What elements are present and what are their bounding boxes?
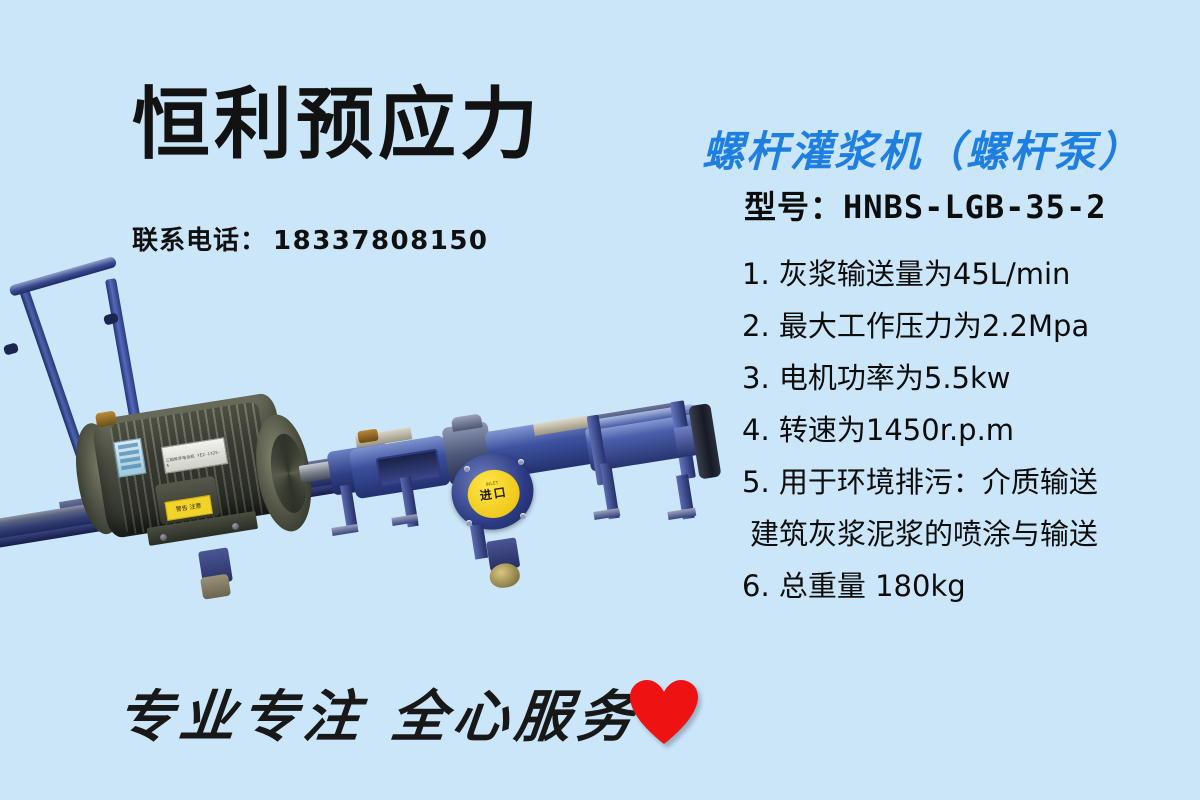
product-photo-screw-grouting-pump: 三相异步电动机 YE2-132S-4 警告 注意 INLET 进口 bbox=[0, 270, 760, 650]
spec-item-continuation: 建筑灰浆泥浆的喷涂与输送 bbox=[742, 508, 1192, 560]
spec-text: 总重量 180kg bbox=[779, 569, 966, 603]
handle-grip-cap-left bbox=[3, 342, 19, 355]
spec-text: 转速为1450r.p.m bbox=[779, 413, 1014, 447]
spec-item: 3. 电机功率为5.5kw bbox=[742, 352, 1192, 404]
motor-brand-sticker bbox=[113, 438, 146, 478]
spec-text: 最大工作压力为2.2Mpa bbox=[779, 309, 1089, 343]
spec-text: 灰浆输送量为45L/min bbox=[779, 257, 1071, 291]
model-label: 型号： bbox=[744, 188, 843, 226]
product-model-line: 型号：HNBS-LGB-35-2 bbox=[744, 182, 1106, 228]
contact-line: 联系电话：18337808150 bbox=[132, 220, 489, 257]
advertisement-canvas: 恒利预应力 联系电话：18337808150 螺杆灌浆机（螺杆泵） 型号：HNB… bbox=[0, 0, 1200, 800]
spec-list: 1. 灰浆输送量为45L/min 2. 最大工作压力为2.2Mpa 3. 电机功… bbox=[742, 248, 1192, 612]
spec-item: 2. 最大工作压力为2.2Mpa bbox=[742, 300, 1192, 352]
wheel-front bbox=[200, 574, 231, 600]
model-value: HNBS-LGB-35-2 bbox=[843, 188, 1106, 226]
brand-title: 恒利预应力 bbox=[132, 86, 542, 164]
heart-icon bbox=[628, 678, 700, 748]
spec-item: 1. 灰浆输送量为45L/min bbox=[742, 248, 1192, 300]
contact-phone: 18337808150 bbox=[273, 226, 489, 256]
support-leg-foot bbox=[331, 524, 358, 536]
spec-text: 建筑灰浆泥浆的喷涂与输送 bbox=[750, 517, 1098, 551]
spec-item: 4. 转速为1450r.p.m bbox=[742, 404, 1192, 456]
slogan-text: 专业专注 全心服务 bbox=[114, 672, 644, 753]
flange-bolt bbox=[464, 466, 470, 472]
spec-text: 电机功率为5.5kw bbox=[779, 361, 1011, 395]
product-title: 螺杆灌浆机（螺杆泵） bbox=[702, 118, 1142, 179]
spec-item: 5. 用于环境排污：介质输送 bbox=[742, 456, 1192, 508]
contact-label: 联系电话： bbox=[132, 226, 267, 256]
motor-bolt bbox=[232, 523, 239, 530]
spec-item: 6. 总重量 180kg bbox=[742, 560, 1192, 612]
spec-text: 用于环境排污：介质输送 bbox=[779, 465, 1098, 499]
flange-bolt bbox=[518, 459, 524, 465]
flange-bolt bbox=[520, 513, 526, 519]
motor-bolt bbox=[160, 534, 167, 541]
support-leg-foot bbox=[593, 508, 620, 520]
handle-bar-top bbox=[8, 256, 117, 297]
